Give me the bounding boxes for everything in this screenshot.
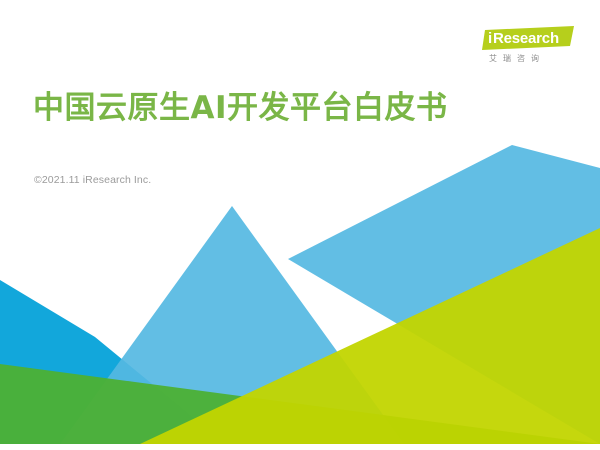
iresearch-logo: iResearch 艾瑞咨询 <box>482 26 578 72</box>
page-title: 中国云原生AI开发平台白皮书 <box>33 91 448 127</box>
logo-wordmark-text: Research <box>493 31 559 46</box>
logo-subtitle: 艾瑞咨询 <box>482 53 578 64</box>
logo-wordmark: iResearch <box>488 27 574 49</box>
copyright-notice: ©2021.11 iResearch Inc. <box>34 174 151 186</box>
report-cover: iResearch 艾瑞咨询 中国云原生AI开发平台白皮书 ©2021.11 i… <box>0 0 600 450</box>
logo-banner-shape: iResearch <box>482 26 574 50</box>
logo-letter-i: i <box>488 31 492 46</box>
